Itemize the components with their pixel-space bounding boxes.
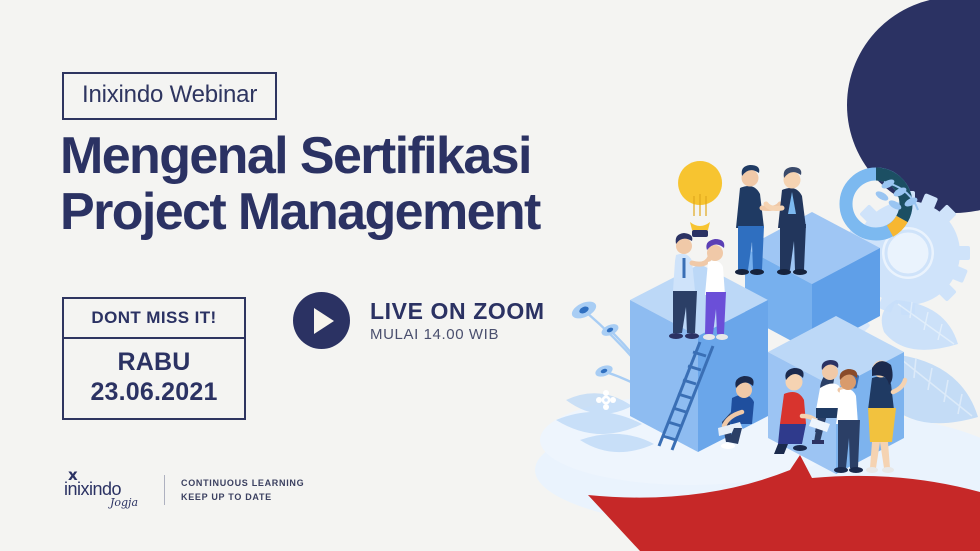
- live-title: LIVE ON ZOOM: [370, 298, 545, 324]
- badge-inixindo-webinar: Inixindo Webinar: [62, 72, 277, 120]
- event-day: RABU: [64, 339, 244, 377]
- date-box: DONT MISS IT! RABU 23.06.2021: [62, 297, 246, 420]
- leaf-small: [882, 300, 958, 350]
- webinar-poster: Inixindo Webinar Mengenal Sertifikasi Pr…: [0, 0, 980, 551]
- headline-line-1: Mengenal Sertifikasi: [60, 127, 531, 185]
- inixindo-logo: x inixindo Jogja: [64, 472, 142, 508]
- play-icon[interactable]: [293, 292, 350, 349]
- tagline-line-1: CONTINUOUS LEARNING: [181, 476, 304, 490]
- live-on-zoom-block: LIVE ON ZOOM MULAI 14.00 WIB: [293, 292, 545, 349]
- headline-line-2: Project Management: [60, 184, 540, 240]
- page-title: Mengenal Sertifikasi Project Management: [60, 128, 540, 240]
- tagline-line-2: KEEP UP TO DATE: [181, 490, 304, 504]
- lightbulb-icon: [678, 161, 722, 237]
- logo-x-icon: x: [68, 468, 78, 483]
- live-subtitle: MULAI 14.00 WIB: [370, 326, 545, 343]
- footer-tagline: CONTINUOUS LEARNING KEEP UP TO DATE: [181, 476, 304, 505]
- footer-divider: [164, 475, 165, 505]
- event-date: 23.06.2021: [64, 377, 244, 418]
- dont-miss-it-label: DONT MISS IT!: [64, 299, 244, 339]
- footer-branding: x inixindo Jogja CONTINUOUS LEARNING KEE…: [64, 472, 304, 508]
